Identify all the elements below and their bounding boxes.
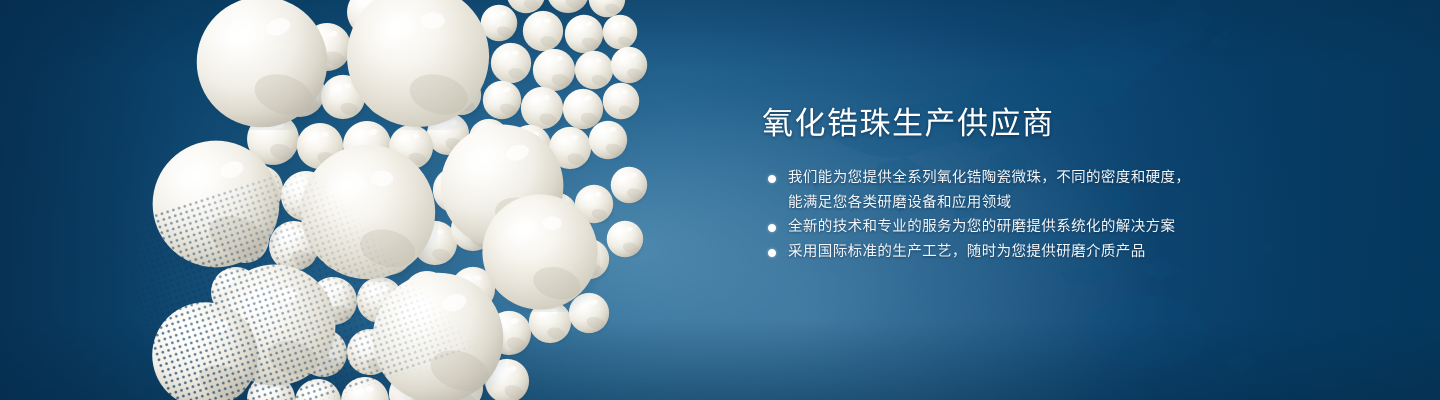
feature-bullet-list: 我们能为您提供全系列氧化锆陶瓷微珠，不同的密度和硬度， 能满足您各类研磨设备和应… [762,166,1382,264]
list-item: 采用国际标准的生产工艺，随时为您提供研磨介质产品 [762,240,1382,265]
bullet-dot-icon [768,175,776,183]
banner-copy: 氧化锆珠生产供应商 我们能为您提供全系列氧化锆陶瓷微珠，不同的密度和硬度， 能满… [762,104,1382,264]
hero-banner: 氧化锆珠生产供应商 我们能为您提供全系列氧化锆陶瓷微珠，不同的密度和硬度， 能满… [0,0,1440,400]
bullet-dot-icon [768,224,776,232]
list-item: 全新的技术和专业的服务为您的研磨提供系统化的解决方案 [762,215,1382,240]
bullet-text-line1: 我们能为您提供全系列氧化锆陶瓷微珠，不同的密度和硬度， [788,170,1190,186]
list-item: 我们能为您提供全系列氧化锆陶瓷微珠，不同的密度和硬度， 能满足您各类研磨设备和应… [762,166,1382,215]
bullet-text-line1: 采用国际标准的生产工艺，随时为您提供研磨介质产品 [788,244,1146,260]
bullet-text-line2: 能满足您各类研磨设备和应用领域 [788,191,1382,216]
bullet-dot-icon [768,249,776,257]
page-title: 氧化锆珠生产供应商 [762,104,1382,144]
bullet-text-line1: 全新的技术和专业的服务为您的研磨提供系统化的解决方案 [788,219,1175,235]
zirconia-beads-photo-icon [150,0,710,400]
